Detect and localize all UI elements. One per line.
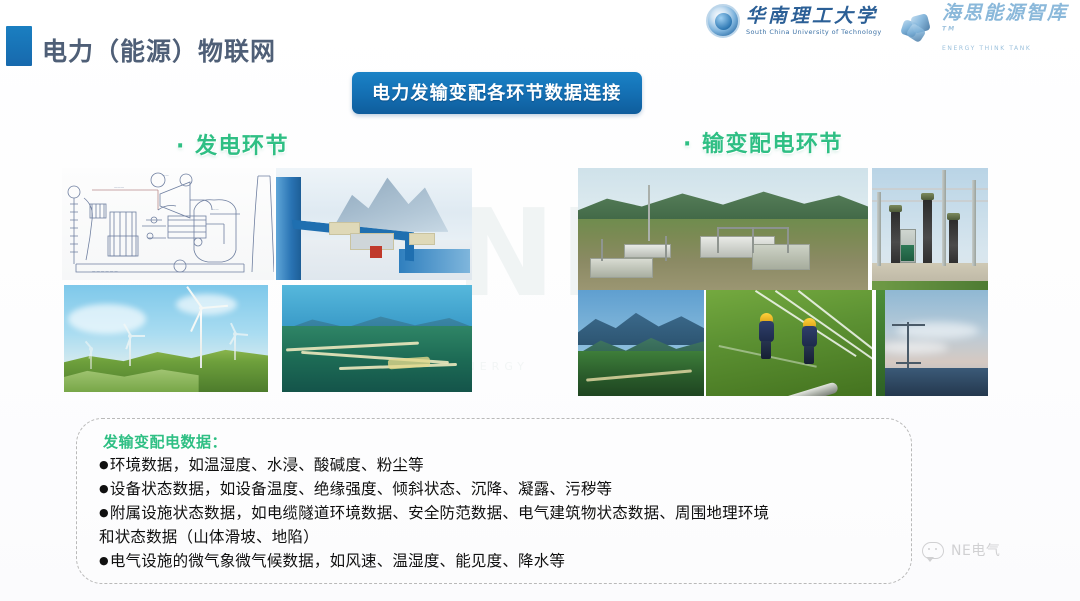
- section-heading-generation: · 发电环节: [176, 128, 289, 160]
- substation-equipment-photo: [872, 168, 988, 290]
- hydropower-diagram-image: [276, 168, 472, 280]
- linemen-on-conductor-photo: [706, 290, 872, 396]
- svg-text:———: ———: [114, 185, 125, 189]
- wechat-account-label: NE电气: [951, 540, 1000, 560]
- data-summary-box: 发输变配电数据： 环境数据，如温湿度、水浸、酸碱度、粉尘等 设备状态数据，如设备…: [76, 418, 912, 584]
- section-label-transmission: 输变配电环节: [702, 132, 843, 157]
- logo-scut: 华南理工大学 South China University of Technol…: [706, 4, 882, 38]
- transmission-tower-dusk-photo: [876, 290, 988, 396]
- banner-pill: 电力发输变配各环节数据连接: [352, 72, 642, 114]
- slide-root: 电力（能源）物联网 华南理工大学 South China University …: [0, 0, 1080, 601]
- page-title: 电力（能源）物联网: [42, 32, 276, 68]
- substation-site-photo: [578, 168, 868, 290]
- thinktank-subtitle: ENERGY THINK TANK: [942, 46, 1080, 52]
- scut-wordmark: 华南理工大学 South China University of Technol…: [746, 7, 882, 36]
- wind-farm-photo: [64, 285, 268, 392]
- svg-text:——: ——: [212, 207, 219, 211]
- list-item: 环境数据，如温湿度、水浸、酸碱度、粉尘等: [99, 453, 897, 477]
- thinktank-name-cn: 海思能源智库TM: [942, 4, 1080, 42]
- scut-name-en: South China University of Technology: [746, 29, 882, 36]
- list-item: 电气设施的微气象微气候数据，如风速、温湿度、能见度、降水等: [99, 549, 897, 573]
- section-heading-transmission: · 输变配电环节: [683, 126, 843, 158]
- terraced-landscape-photo: [282, 285, 472, 392]
- scut-emblem-icon: [706, 4, 740, 38]
- svg-text:— — — — — —: — — — — — —: [92, 269, 118, 273]
- mountain-valley-photo: [578, 290, 704, 396]
- section-label-generation: 发电环节: [195, 134, 289, 159]
- wechat-icon: [922, 542, 944, 559]
- thinktank-wordmark: 海思能源智库TM ENERGY THINK TANK: [942, 4, 1080, 52]
- scut-name-cn: 华南理工大学: [746, 7, 882, 26]
- list-item-continuation: 和状态数据（山体滑坡、地陷）: [99, 525, 897, 549]
- title-accent-bar: [6, 26, 32, 66]
- svg-text:——: ——: [162, 173, 169, 177]
- trademark-mark: TM: [942, 26, 956, 33]
- thermal-plant-diagram-image: ————— ——— — — — — —: [62, 168, 274, 280]
- banner-label: 电力发输变配各环节数据连接: [372, 79, 622, 105]
- bullet-dot-icon: ·: [176, 134, 186, 159]
- logo-energy-thinktank: 海思能源智库TM ENERGY THINK TANK: [900, 4, 1080, 52]
- thinktank-emblem-icon: [900, 13, 934, 43]
- bullet-dot-icon: ·: [683, 132, 693, 157]
- data-box-list: 环境数据，如温湿度、水浸、酸碱度、粉尘等 设备状态数据，如设备温度、绝缘强度、倾…: [99, 453, 897, 573]
- wechat-footer-badge: NE电气: [922, 540, 1000, 560]
- list-item: 设备状态数据，如设备温度、绝缘强度、倾斜状态、沉降、凝露、污秽等: [99, 477, 897, 501]
- list-item: 附属设施状态数据，如电缆隧道环境数据、安全防范数据、电气建筑物状态数据、周围地理…: [99, 501, 897, 525]
- data-box-heading: 发输变配电数据：: [103, 431, 227, 452]
